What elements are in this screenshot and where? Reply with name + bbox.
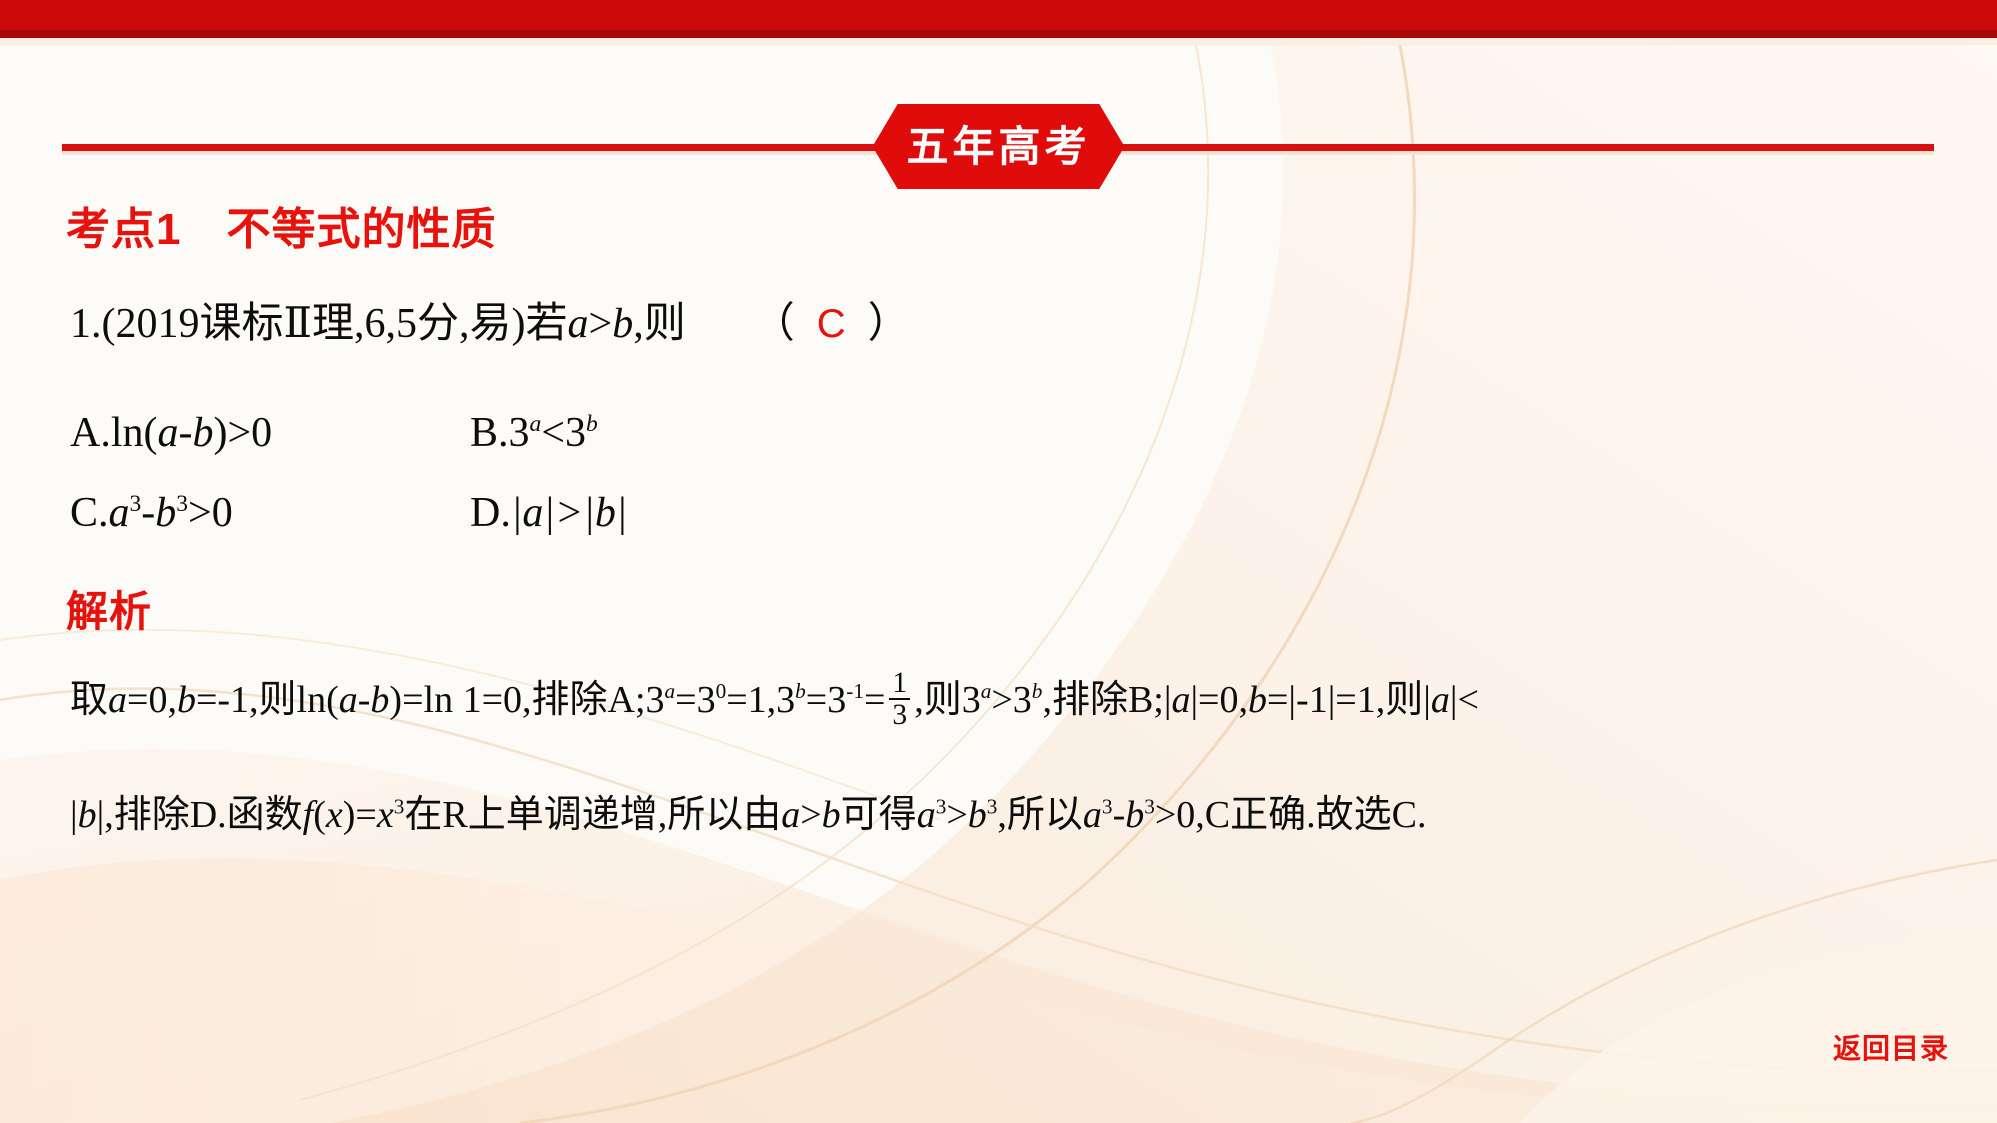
sol1-p13: |=0, [1190,679,1248,721]
sol2-f: f [303,794,314,836]
question-stem: 1.(2019课标Ⅱ理,6,5分,易)若a>b,则 （C） [70,303,910,345]
option-c-key: C. [70,490,109,536]
option-c: C.a3-b3>0 [70,490,233,536]
sol2-exp-3c: 3 [987,794,998,818]
sol2-a3: a [1083,794,1102,836]
sol2-p4: )= [343,794,377,836]
sol2-p9: ,所以 [997,794,1083,836]
sol1-p9: = [864,679,885,721]
sol1-exp-a2: a [981,679,992,703]
answer-letter: C [795,302,868,346]
sol1-p10: ,则3 [914,679,981,721]
sol2-exp-3e: 3 [1144,794,1155,818]
option-c-tail: >0 [188,490,233,536]
sol1-p3: =-1,则ln( [196,679,339,721]
sol2-p5: 在R上单调递增,所以由 [404,794,781,836]
option-row-cd: C.a3-b3>0 D.|a|>|b| [70,492,970,534]
sol1-p8: =3 [806,679,846,721]
sol2-b: b [78,794,97,836]
option-c-exp1: 3 [130,491,142,517]
sol2-a: a [781,794,800,836]
slide-content: 考点1 不等式的性质 1.(2019课标Ⅱ理,6,5分,易)若a>b,则 （C）… [0,0,1997,1123]
sol1-p15: |< [1450,679,1479,721]
option-a-tail: )>0 [214,410,273,456]
fraction-denominator: 3 [889,700,910,730]
sol2-p7: 可得 [841,794,917,836]
option-d-key: D. [470,490,511,536]
option-row-ab: A.ln(a-b)>0 B.3a<3b [70,412,970,454]
option-a-dash: - [179,410,193,456]
sol1-b3: b [1248,679,1267,721]
sol1-p5: )=ln 1=0,排除A;3 [389,679,664,721]
question-var-a: a [568,301,589,347]
sol1-abs-a: a [1171,679,1190,721]
sol1-exp-b2: b [1032,679,1043,703]
sol1-p11: >3 [991,679,1031,721]
sol2-p8: > [946,794,967,836]
sol2-exp-3: 3 [394,794,405,818]
option-d: D.|a|>|b| [470,492,627,534]
sol2-p6: > [800,794,821,836]
sol2-b3: b [968,794,987,836]
sol1-exp-a: a [665,679,676,703]
option-a-var1: a [158,410,179,456]
question-var-b: b [612,301,633,347]
sol1-p6: =3 [675,679,715,721]
sol2-x: x [326,794,343,836]
sol2-b4: b [1125,794,1144,836]
page-title: 考点1 不等式的性质 [66,193,496,257]
sol1-p1: 取 [70,679,108,721]
sol1-p7: =1,3 [726,679,795,721]
question-stem-tail: ,则 [633,301,686,347]
sol1-a: a [108,679,127,721]
question-number: 1. [70,301,102,347]
answer-paren-close: ） [868,301,910,347]
option-b-key: B. [470,410,509,456]
sol2-p11: >0,C正确.故选C. [1155,794,1427,836]
sol2-exp-3d: 3 [1102,794,1113,818]
solution-line-1: 取a=0,b=-1,则ln(a-b)=ln 1=0,排除A;3a=30=1,3b… [70,668,1479,730]
option-b-base1: 3 [509,410,530,456]
sol2-p10: - [1113,794,1126,836]
question-relation: > [589,301,613,347]
sol1-b: b [177,679,196,721]
sol2-p3: ( [313,794,326,836]
option-c-exp2: 3 [176,491,188,517]
sol1-p4: - [358,679,371,721]
option-a-var2: b [193,410,214,456]
sol1-b2: b [370,679,389,721]
sol1-p14: =|-1|=1,则| [1267,679,1431,721]
option-d-text: |a|>|b| [511,490,628,536]
back-to-contents-link[interactable]: 返回目录 [1833,1027,1949,1067]
sol2-exp-3b: 3 [936,794,947,818]
sol2-a2: a [917,794,936,836]
sol2-p1: | [70,794,78,836]
solution-line-2: |b|,排除D.函数f(x)=x3在R上单调递增,所以由a>b可得a3>b3,所… [70,796,1426,834]
sol1-a2: a [339,679,358,721]
option-b: B.3a<3b [470,412,598,454]
answer-paren-open: （ [753,301,795,347]
option-b-rel: < [541,410,565,456]
solution-label: 解析 [66,578,152,639]
sol1-exp-m1: -1 [846,679,864,703]
sol1-exp-0: 0 [716,679,727,703]
option-a-key: A. [70,410,111,456]
sol1-abs-a2: a [1431,679,1450,721]
option-c-base2: b [155,490,176,536]
option-b-exp2: b [586,411,598,437]
sol2-p2: |,排除D.函数 [97,794,303,836]
sol1-exp-b: b [795,679,806,703]
sol1-p12: ,排除B;| [1042,679,1171,721]
question-stem-lead: 若 [526,301,568,347]
option-a: A.ln(a-b)>0 [70,410,272,456]
sol2-x2: x [377,794,394,836]
option-a-text: ln( [111,410,158,456]
option-c-base1: a [109,490,130,536]
option-b-exp1: a [530,411,542,437]
option-c-dash: - [141,490,155,536]
sol2-b2: b [822,794,841,836]
question-source: (2019课标Ⅱ理,6,5分,易) [102,301,526,347]
option-b-base2: 3 [565,410,586,456]
fraction-one-third: 13 [889,668,910,730]
fraction-numerator: 1 [889,668,910,700]
sol1-p2: =0, [127,679,177,721]
